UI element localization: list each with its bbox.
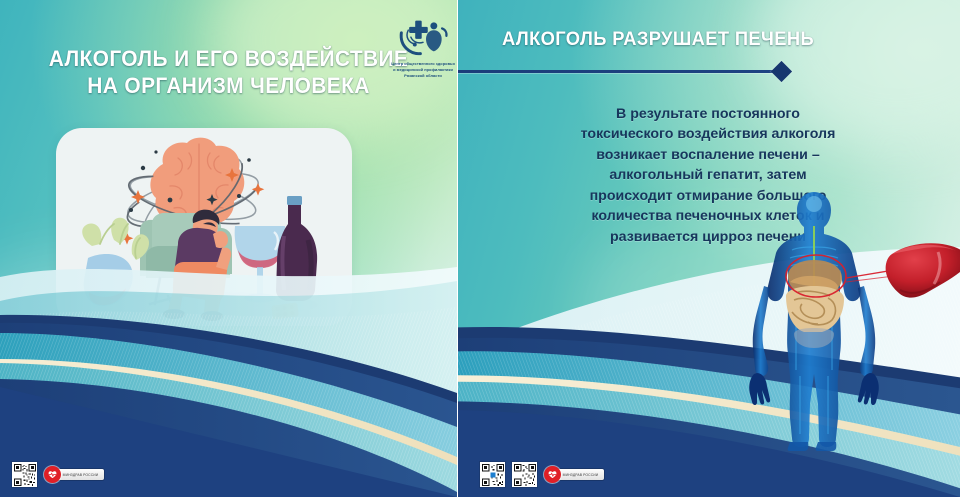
qr-code[interactable] (512, 462, 537, 487)
body-line-3: возникает воспаление печени – (478, 145, 938, 165)
left-footer-codes: МИНЗДРАВ РОССИИ (12, 462, 104, 487)
organization-logo: Центр общественного здоровья и медицинск… (377, 18, 457, 79)
badge-label: МИНЗДРАВ РОССИИ (557, 469, 604, 480)
body-line-4: алкогольный гепатит, затем (478, 165, 938, 185)
right-slide-title: АЛКОГОЛЬ РАЗРУШАЕТ ПЕЧЕНЬ (502, 28, 897, 51)
rule-diamond-marker (771, 61, 792, 82)
medical-cross-caduceus-person-icon (397, 18, 449, 58)
slide-right: АЛКОГОЛЬ РАЗРУШАЕТ ПЕЧЕНЬ В результате п… (458, 0, 960, 497)
right-footer-codes: МИНЗДРАВ РОССИИ (480, 462, 604, 487)
badge-label-text: МИНЗДРАВ РОССИИ (63, 473, 99, 477)
enlarged-liver (886, 243, 960, 297)
badge-label: МИНЗДРАВ РОССИИ (57, 469, 104, 480)
qr-code[interactable] (12, 462, 37, 487)
body-line-2: токсического воздействия алкоголя (478, 124, 938, 144)
badge-label-text: МИНЗДРАВ РОССИИ (563, 473, 599, 477)
logo-caption-line-3: Рязанской области (377, 73, 457, 79)
rule-line (458, 70, 782, 73)
slide-left: АЛКОГОЛЬ И ЕГО ВОЗДЕЙСТВИЕ НА ОРГАНИЗМ Ч… (0, 0, 457, 497)
body-line-1: В результате постоянного (478, 104, 938, 124)
title-rule (458, 63, 960, 81)
ministry-badge: МИНЗДРАВ РОССИИ (44, 466, 104, 483)
badge-emblem-icon (44, 466, 61, 483)
human-body-liver-illustration (742, 190, 960, 452)
ministry-badge: МИНЗДРАВ РОССИИ (544, 466, 604, 483)
poster-canvas: АЛКОГОЛЬ И ЕГО ВОЗДЕЙСТВИЕ НА ОРГАНИЗМ Ч… (0, 0, 960, 497)
badge-emblem-icon (544, 466, 561, 483)
qr-code[interactable] (480, 462, 505, 487)
logo-caption: Центр общественного здоровья и медицинск… (377, 61, 457, 79)
